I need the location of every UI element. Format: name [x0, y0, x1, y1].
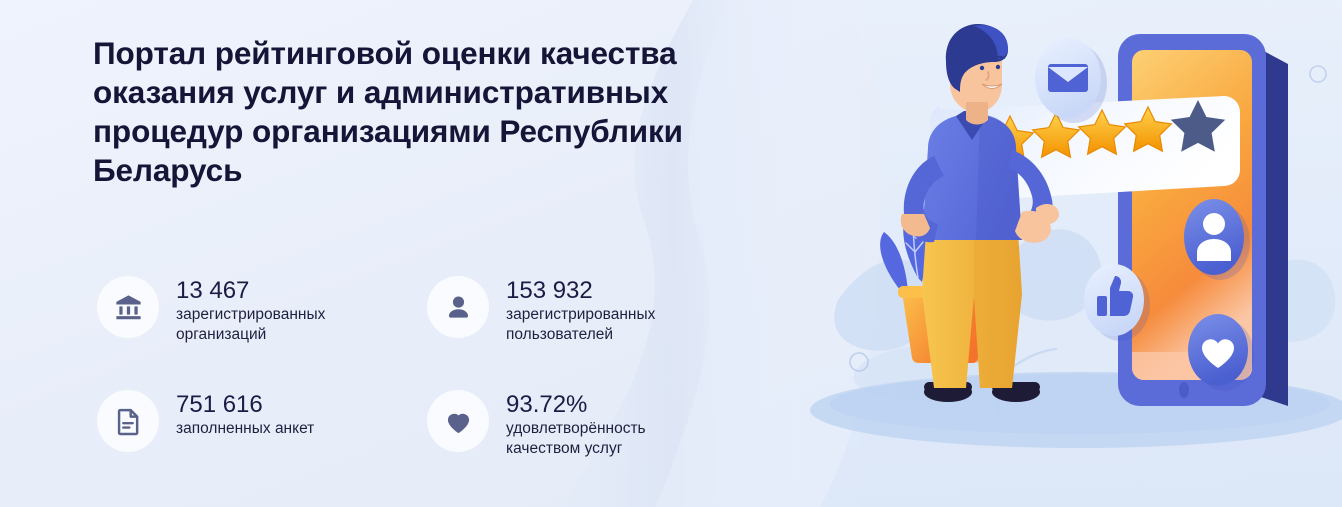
heart-icon	[427, 390, 489, 452]
page-title: Портал рейтинговой оценки качества оказа…	[93, 34, 793, 190]
stat-completed-forms: 751 616 заполненных анкет	[97, 388, 427, 459]
stat-text: 153 932 зарегистрированных пользователей	[506, 274, 721, 345]
person-icon	[427, 276, 489, 338]
stat-text: 751 616 заполненных анкет	[176, 388, 314, 439]
document-icon	[97, 390, 159, 452]
stat-label: зарегистрированных организаций	[176, 305, 391, 345]
stat-value: 93.72%	[506, 390, 721, 419]
stat-label: удовлетворённость качеством услуг	[506, 419, 721, 459]
stat-label: заполненных анкет	[176, 419, 314, 439]
stat-label: зарегистрированных пользователей	[506, 305, 721, 345]
stat-service-satisfaction: 93.72% удовлетворённость качеством услуг	[427, 388, 757, 459]
stat-registered-users: 153 932 зарегистрированных пользователей	[427, 274, 757, 388]
stat-text: 13 467 зарегистрированных организаций	[176, 274, 391, 345]
stat-text: 93.72% удовлетворённость качеством услуг	[506, 388, 721, 459]
bank-icon	[97, 276, 159, 338]
stat-registered-organizations: 13 467 зарегистрированных организаций	[97, 274, 427, 388]
stat-value: 13 467	[176, 276, 391, 305]
hero-content: Портал рейтинговой оценки качества оказа…	[93, 34, 813, 190]
stat-value: 153 932	[506, 276, 721, 305]
stat-value: 751 616	[176, 390, 314, 419]
rating-scene	[822, 0, 1342, 507]
hero-banner: Портал рейтинговой оценки качества оказа…	[0, 0, 1342, 507]
statistics-group: 13 467 зарегистрированных организаций 15…	[97, 274, 837, 459]
envelope-icon	[1048, 64, 1088, 92]
hero-illustration	[822, 0, 1342, 507]
